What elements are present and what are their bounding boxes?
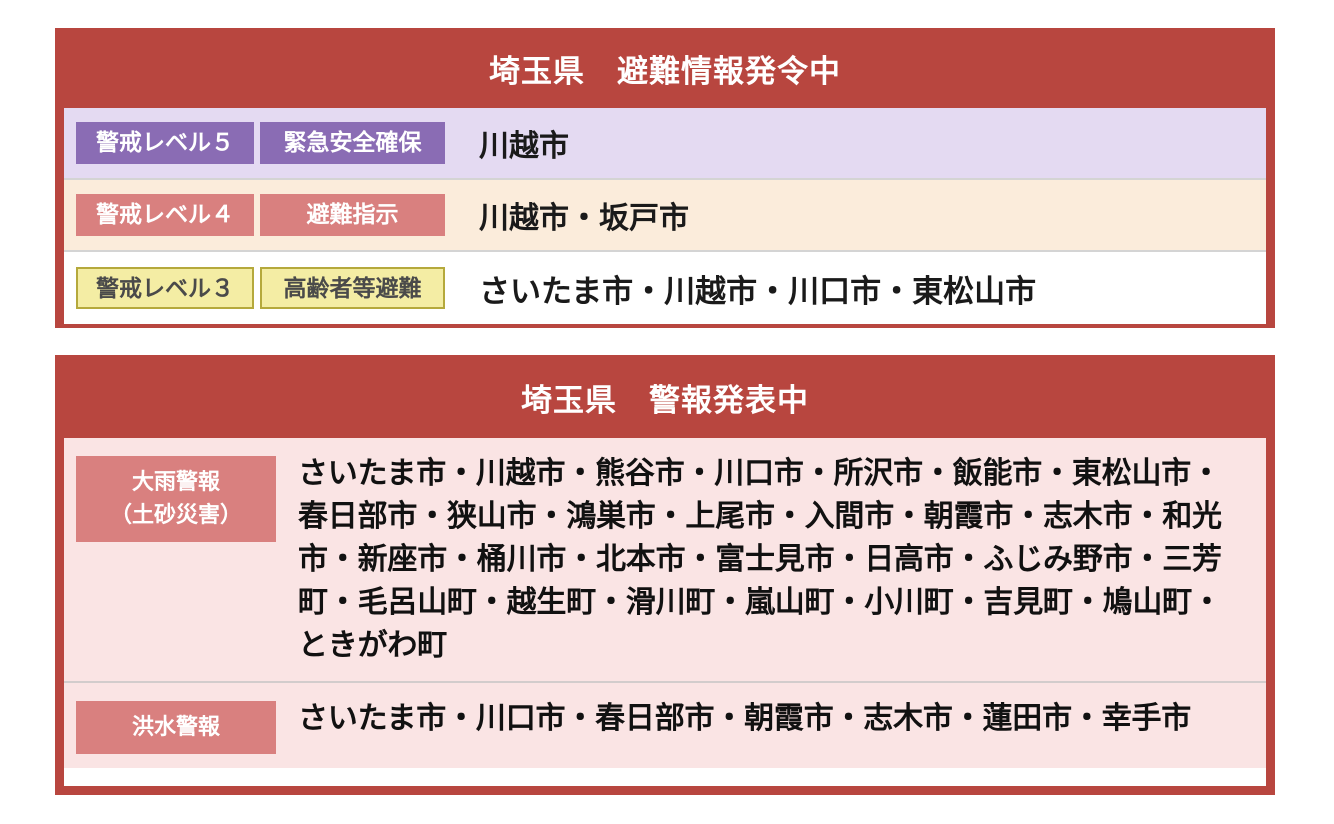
level4-badge-group: 警戒レベル４ 避難指示 — [76, 194, 451, 236]
flood-warning-badge: 洪水警報 — [76, 701, 276, 754]
alert-page: 埼玉県 避難情報発令中 警戒レベル５ 緊急安全確保 川越市 警戒レベル４ 避難指… — [0, 0, 1334, 824]
warning-panel-title: 埼玉県 警報発表中 — [64, 364, 1266, 438]
warning-rows-container: 大雨警報 （土砂災害） さいたま市・川越市・熊谷市・川口市・所沢市・飯能市・東松… — [64, 438, 1266, 768]
level4-city-list: 川越市・坂戸市 — [451, 193, 1266, 237]
evacuation-info-panel: 埼玉県 避難情報発令中 警戒レベル５ 緊急安全確保 川越市 警戒レベル４ 避難指… — [55, 28, 1275, 328]
level3-level-badge: 警戒レベル３ — [76, 267, 254, 309]
level4-action-badge: 避難指示 — [260, 194, 445, 236]
level5-action-badge: 緊急安全確保 — [260, 122, 445, 164]
heavy-rain-city-list: さいたま市・川越市・熊谷市・川口市・所沢市・飯能市・東松山市・春日部市・狭山市・… — [276, 452, 1248, 667]
level4-level-badge: 警戒レベル４ — [76, 194, 254, 236]
heavy-rain-warning-badge: 大雨警報 （土砂災害） — [76, 456, 276, 542]
level3-badge-group: 警戒レベル３ 高齢者等避難 — [76, 267, 451, 309]
warning-info-panel: 埼玉県 警報発表中 大雨警報 （土砂災害） さいたま市・川越市・熊谷市・川口市・… — [55, 355, 1275, 795]
flood-warning-name: 洪水警報 — [132, 715, 220, 740]
evacuation-row-level4: 警戒レベル４ 避難指示 川越市・坂戸市 — [64, 180, 1266, 252]
warning-row-heavy-rain: 大雨警報 （土砂災害） さいたま市・川越市・熊谷市・川口市・所沢市・飯能市・東松… — [64, 438, 1266, 683]
heavy-rain-warning-name: 大雨警報 — [132, 470, 220, 495]
level5-level-badge: 警戒レベル５ — [76, 122, 254, 164]
heavy-rain-warning-subtype: （土砂災害） — [76, 499, 276, 532]
warning-row-flood: 洪水警報 さいたま市・川口市・春日部市・朝霞市・志木市・蓮田市・幸手市 — [64, 683, 1266, 768]
evacuation-row-level3: 警戒レベル３ 高齢者等避難 さいたま市・川越市・川口市・東松山市 — [64, 252, 1266, 324]
evacuation-panel-title: 埼玉県 避難情報発令中 — [64, 36, 1266, 108]
level5-badge-group: 警戒レベル５ 緊急安全確保 — [76, 122, 451, 164]
level5-city-list: 川越市 — [451, 121, 1266, 165]
level3-city-list: さいたま市・川越市・川口市・東松山市 — [451, 266, 1266, 311]
evacuation-row-level5: 警戒レベル５ 緊急安全確保 川越市 — [64, 108, 1266, 180]
flood-city-list: さいたま市・川口市・春日部市・朝霞市・志木市・蓮田市・幸手市 — [276, 697, 1248, 740]
level3-action-badge: 高齢者等避難 — [260, 267, 445, 309]
